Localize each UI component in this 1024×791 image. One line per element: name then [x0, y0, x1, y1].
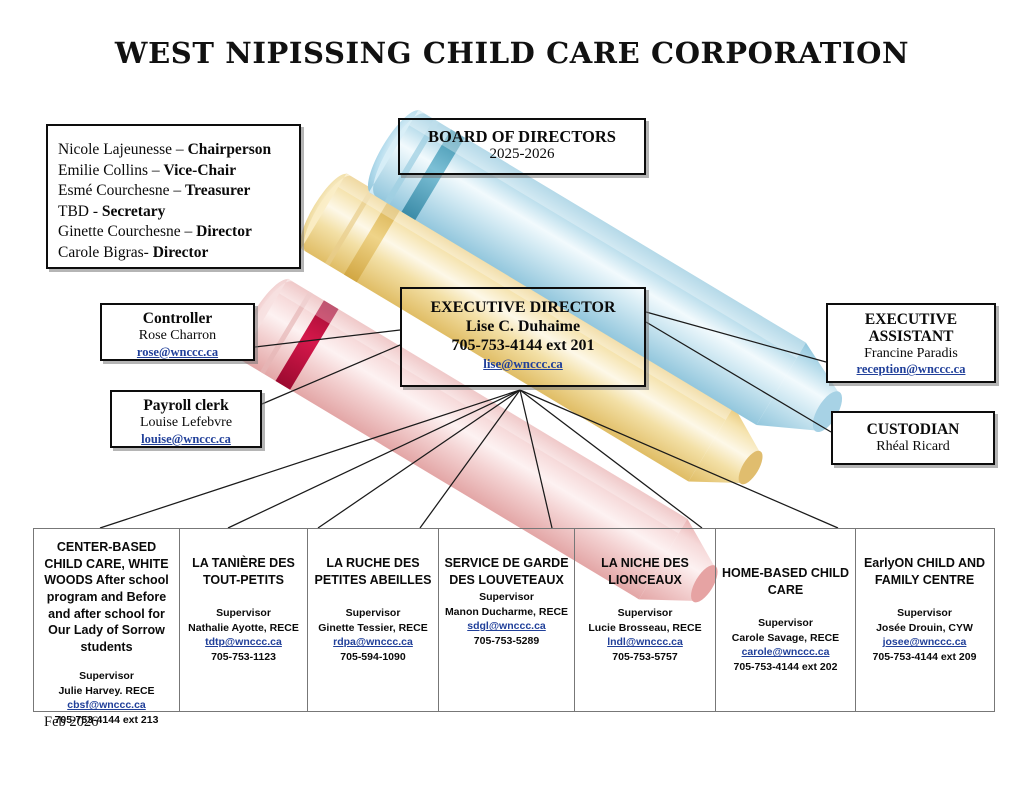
program-phone: 705-753-4144 ext 202	[720, 660, 851, 674]
executive-director-title: EXECUTIVE DIRECTOR	[402, 299, 644, 318]
executive-director-box: EXECUTIVE DIRECTOR Lise C. Duhaime 705-7…	[400, 287, 646, 387]
program-email[interactable]: carole@wnccc.ca	[720, 645, 851, 659]
board-member-row: Ginette Courchesne – Director	[58, 222, 299, 243]
payroll-clerk-name: Louise Lefebvre	[112, 415, 260, 432]
supervisor-name: Julie Harvey. RECE	[38, 684, 175, 698]
supervisor-name: Carole Savage, RECE	[720, 631, 851, 645]
board-member-role: Secretary	[102, 203, 165, 220]
board-member-role: Treasurer	[185, 182, 250, 199]
program-name: CENTER-BASED CHILD CARE, WHITE WOODS Aft…	[38, 539, 175, 655]
supervisor-name: Josée Drouin, CYW	[860, 621, 989, 635]
program-name: LA TANIÈRE DES TOUT-PETITS	[184, 555, 303, 588]
program-email[interactable]: lndl@wnccc.ca	[579, 635, 711, 649]
custodian-title: CUSTODIAN	[833, 421, 993, 439]
board-member-role: Chairperson	[188, 141, 272, 158]
executive-director-phone: 705-753-4144 ext 201	[402, 337, 644, 356]
program-name: HOME-BASED CHILD CARE	[720, 565, 851, 598]
board-member-role: Director	[196, 223, 252, 240]
supervisor-label: Supervisor	[38, 669, 175, 683]
program-name: LA RUCHE DES PETITES ABEILLES	[312, 555, 434, 588]
board-member-name: TBD -	[58, 203, 102, 220]
supervisor-name: Manon Ducharme, RECE	[443, 605, 570, 619]
org-chart-page: WEST NIPISSING CHILD CARE CORPORATION Ni…	[0, 0, 1024, 791]
board-member-row: Carole Bigras- Director	[58, 243, 299, 264]
supervisor-label: Supervisor	[184, 606, 303, 620]
executive-director-email[interactable]: lise@wnccc.ca	[402, 356, 644, 371]
controller-box: Controller Rose Charron rose@wnccc.ca	[100, 303, 255, 361]
payroll-clerk-box: Payroll clerk Louise Lefebvre louise@wnc…	[110, 390, 262, 448]
program-cell: LA RUCHE DES PETITES ABEILLES Supervisor…	[308, 529, 439, 711]
program-email[interactable]: cbsf@wnccc.ca	[38, 698, 175, 712]
program-phone: 705-594-1090	[312, 650, 434, 664]
custodian-name: Rhéal Ricard	[833, 439, 993, 456]
program-cell: SERVICE DE GARDE DES LOUVETEAUX Supervis…	[439, 529, 575, 711]
supervisor-label: Supervisor	[579, 606, 711, 620]
program-name: SERVICE DE GARDE DES LOUVETEAUX	[443, 555, 570, 588]
supervisor-label: Supervisor	[860, 606, 989, 620]
controller-title: Controller	[102, 310, 253, 328]
board-member-row: Nicole Lajeunesse – Chairperson	[58, 140, 299, 161]
executive-assistant-title-line2: ASSISTANT	[828, 328, 994, 345]
program-cell: CENTER-BASED CHILD CARE, WHITE WOODS Aft…	[34, 529, 180, 711]
supervisor-name: Lucie Brosseau, RECE	[579, 621, 711, 635]
supervisor-label: Supervisor	[720, 616, 851, 630]
program-email[interactable]: sdgl@wnccc.ca	[443, 619, 570, 633]
board-member-row: TBD - Secretary	[58, 202, 299, 223]
payroll-clerk-title: Payroll clerk	[112, 397, 260, 415]
board-of-directors-box: BOARD OF DIRECTORS 2025-2026	[398, 118, 646, 175]
program-name: EarlyON CHILD AND FAMILY CENTRE	[860, 555, 989, 588]
program-email[interactable]: tdtp@wnccc.ca	[184, 635, 303, 649]
supervisor-label: Supervisor	[312, 606, 434, 620]
program-cell: LA NICHE DES LIONCEAUX Supervisor Lucie …	[575, 529, 716, 711]
board-member-row: Emilie Collins – Vice-Chair	[58, 161, 299, 182]
board-member-name: Nicole Lajeunesse –	[58, 141, 188, 158]
board-of-directors-years: 2025-2026	[400, 146, 644, 164]
executive-assistant-email[interactable]: reception@wnccc.ca	[828, 362, 994, 377]
executive-director-name: Lise C. Duhaime	[402, 318, 644, 337]
board-member-name: Esmé Courchesne –	[58, 182, 185, 199]
board-member-row: Esmé Courchesne – Treasurer	[58, 181, 299, 202]
payroll-clerk-email[interactable]: louise@wnccc.ca	[112, 432, 260, 447]
board-member-role: Director	[153, 244, 209, 261]
program-phone: 705-753-1123	[184, 650, 303, 664]
program-phone: 705-753-4144 ext 209	[860, 650, 989, 664]
program-phone: 705-753-5289	[443, 634, 570, 648]
supervisor-label: Supervisor	[443, 590, 570, 604]
board-of-directors-title: BOARD OF DIRECTORS	[400, 127, 644, 146]
footer-date: Feb 2026	[44, 714, 98, 731]
program-cell: EarlyON CHILD AND FAMILY CENTRE Supervis…	[856, 529, 993, 711]
program-cell: LA TANIÈRE DES TOUT-PETITS Supervisor Na…	[180, 529, 308, 711]
custodian-box: CUSTODIAN Rhéal Ricard	[831, 411, 995, 465]
program-email[interactable]: josee@wnccc.ca	[860, 635, 989, 649]
board-member-name: Carole Bigras-	[58, 244, 153, 261]
executive-assistant-name: Francine Paradis	[828, 346, 994, 363]
programs-row: CENTER-BASED CHILD CARE, WHITE WOODS Aft…	[33, 528, 995, 712]
board-member-name: Emilie Collins –	[58, 162, 164, 179]
board-member-name: Ginette Courchesne –	[58, 223, 196, 240]
supervisor-name: Ginette Tessier, RECE	[312, 621, 434, 635]
board-member-role: Vice-Chair	[164, 162, 237, 179]
controller-name: Rose Charron	[102, 328, 253, 345]
board-members-box: Nicole Lajeunesse – Chairperson Emilie C…	[46, 124, 301, 269]
program-email[interactable]: rdpa@wnccc.ca	[312, 635, 434, 649]
controller-email[interactable]: rose@wnccc.ca	[102, 345, 253, 360]
executive-assistant-box: EXECUTIVE ASSISTANT Francine Paradis rec…	[826, 303, 996, 383]
program-cell: HOME-BASED CHILD CARE Supervisor Carole …	[716, 529, 856, 711]
program-phone: 705-753-5757	[579, 650, 711, 664]
executive-assistant-title-line1: EXECUTIVE	[828, 311, 994, 328]
program-name: LA NICHE DES LIONCEAUX	[579, 555, 711, 588]
supervisor-name: Nathalie Ayotte, RECE	[184, 621, 303, 635]
